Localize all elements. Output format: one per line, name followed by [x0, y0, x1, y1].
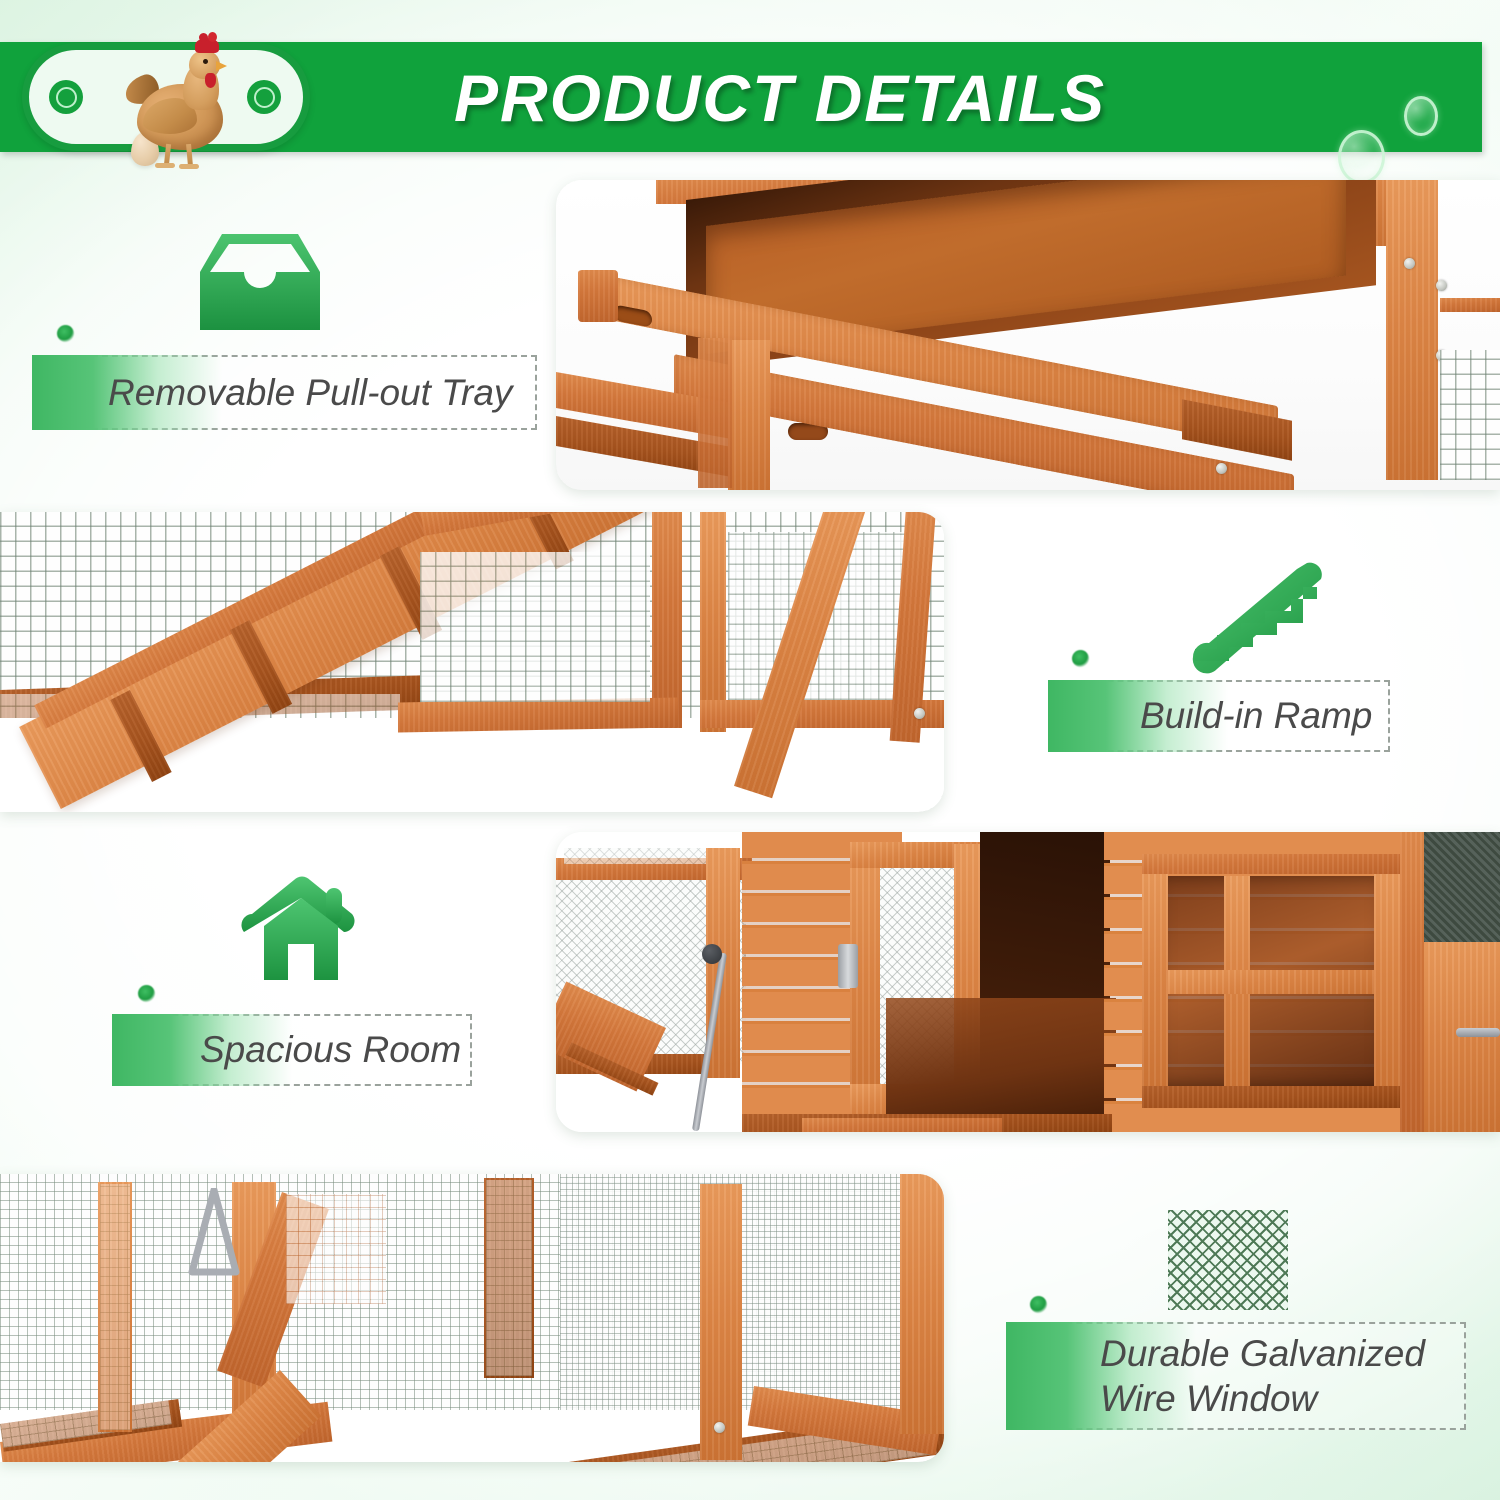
accent-dot [1030, 1296, 1047, 1313]
ramp-stairs-icon-svg [1187, 557, 1329, 675]
feature-label-box-ramp: Build-in Ramp [1078, 680, 1390, 752]
feature-label-text: Removable Pull-out Tray [108, 370, 512, 415]
wire-mesh-icon [1155, 1190, 1300, 1310]
ramp-stairs-icon [1185, 555, 1330, 675]
accent-dot [57, 325, 74, 342]
feature-label-text: Build-in Ramp [1140, 693, 1372, 738]
hen-illustration [117, 32, 263, 178]
hen-beak [216, 61, 227, 71]
bubble-small-decoration [1404, 96, 1438, 136]
wire-mesh-swatch [1168, 1210, 1288, 1310]
feature-label-box-pullout-tray: Removable Pull-out Tray [62, 355, 537, 430]
tray-icon-svg [196, 230, 324, 338]
photo-panel-pullout-tray [556, 180, 1500, 490]
feature-label-box-wire-window: Durable Galvanized Wire Window [1036, 1322, 1466, 1430]
bubble-large-decoration [1338, 130, 1385, 184]
hen-wattle [205, 73, 216, 88]
photo-panel-spacious-room [556, 832, 1500, 1132]
feature-label-text: Spacious Room [200, 1027, 461, 1072]
brand-badge [22, 43, 310, 151]
photo-wire-window [0, 1174, 944, 1462]
photo-pullout-tray [556, 180, 1500, 490]
feature-label-text: Durable Galvanized Wire Window [1100, 1331, 1425, 1421]
accent-dot [138, 985, 155, 1002]
accent-dot [1072, 650, 1089, 667]
screw-accent-left-icon [49, 80, 83, 114]
house-icon-svg [240, 870, 362, 986]
tray-icon [195, 228, 325, 338]
hen-foot [179, 164, 199, 169]
photo-panel-wire-window [0, 1174, 944, 1462]
hen-foot [155, 163, 175, 168]
photo-spacious-room [556, 832, 1500, 1132]
hen-comb [195, 38, 219, 53]
page-title: PRODUCT DETAILS [330, 50, 1230, 146]
house-icon [238, 868, 363, 986]
hen-eye [203, 59, 208, 64]
photo-ramp [0, 512, 944, 812]
feature-label-box-spacious-room: Spacious Room [142, 1014, 472, 1086]
photo-panel-ramp [0, 512, 944, 812]
